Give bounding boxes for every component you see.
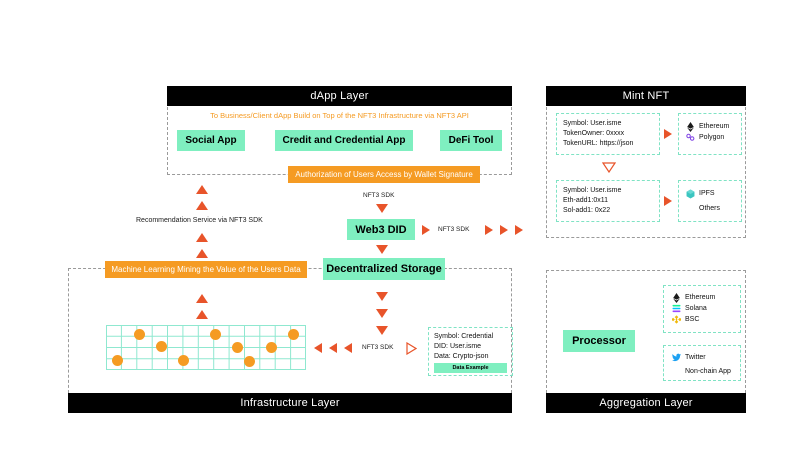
app-chip-defi-label: DeFi Tool	[449, 135, 494, 146]
app-chip-social-label: Social App	[185, 135, 236, 146]
mint-spec-1-line-1: Symbol: User.isme	[563, 119, 653, 129]
app-chip-credit-label: Credit and Credential App	[283, 135, 406, 146]
polygon-icon	[686, 133, 695, 142]
blank-icon	[672, 367, 681, 376]
infrastructure-layer-banner-label: Infrastructure Layer	[240, 397, 339, 409]
recommendation-service-label: Recommendation Service via NFT3 SDK	[136, 217, 263, 224]
arrow-down-did-to-storage	[376, 245, 388, 254]
arrow-up-rec-3	[196, 233, 208, 242]
solana-icon	[672, 304, 681, 313]
mint-target-box-1: Ethereum Polygon	[678, 113, 742, 155]
arrow-left-data-1	[314, 343, 322, 353]
dapp-layer-banner-label: dApp Layer	[310, 90, 368, 102]
chain-row-ethereum: Ethereum	[672, 292, 732, 303]
arrow-down-storage-3	[376, 326, 388, 335]
sdk-label-dapp-to-did: NFT3 SDK	[363, 192, 394, 199]
dapp-layer-note: To Business/Client dApp Build on Top of …	[167, 111, 512, 120]
mint-target-ipfs-label: IPFS	[699, 188, 715, 199]
arrow-up-rec-2	[196, 201, 208, 210]
scatter-dot	[156, 341, 167, 352]
chain-row-solana: Solana	[672, 303, 732, 314]
authorization-box[interactable]: Authorization of Users Access by Wallet …	[288, 166, 480, 183]
machine-learning-box[interactable]: Machine Learning Mining the Value of the…	[105, 261, 307, 278]
arrow-did-right-4	[515, 225, 523, 235]
app-row-nonchain: Non-chain App	[672, 366, 732, 377]
chain-row-bsc: BSC	[672, 314, 732, 325]
mint-target-ethereum: Ethereum	[686, 121, 734, 132]
diagram-canvas: dApp Layer To Business/Client dApp Build…	[0, 0, 800, 450]
web3-did-box[interactable]: Web3 DID	[347, 219, 415, 240]
arrow-did-right-3	[500, 225, 508, 235]
credential-line-1: Symbol: Credential	[434, 332, 507, 342]
app-chip-social[interactable]: Social App	[177, 130, 245, 151]
arrow-left-data-2	[329, 343, 337, 353]
arrow-up-ml-1	[196, 294, 208, 303]
machine-learning-label: Machine Learning Mining the Value of the…	[111, 265, 300, 274]
mint-target-box-2: IPFS Others	[678, 180, 742, 222]
ethereum-icon	[686, 122, 695, 131]
mint-target-ipfs: IPFS	[686, 188, 734, 199]
mint-arrow-down-hollow	[602, 160, 616, 178]
app-row-twitter: Twitter	[672, 352, 732, 363]
scatter-dot	[244, 356, 255, 367]
authorization-label: Authorization of Users Access by Wallet …	[295, 170, 473, 179]
credential-line-3: Data: Crypto-json	[434, 352, 507, 362]
blank-icon	[686, 204, 695, 213]
mint-spec-1-line-3: TokenURL: https://json	[563, 139, 653, 149]
mint-arrow-right-1	[664, 129, 672, 139]
aggregation-apps-box: Twitter Non-chain App	[663, 345, 741, 381]
mint-nft-banner: Mint NFT	[546, 86, 746, 106]
data-example-label: Data Example	[452, 365, 488, 371]
sdk-label-did-right: NFT3 SDK	[438, 226, 469, 233]
infrastructure-layer-banner: Infrastructure Layer	[68, 393, 512, 413]
app-twitter-label: Twitter	[685, 352, 706, 363]
app-nonchain-label: Non-chain App	[685, 366, 731, 377]
mint-spec-2-line-1: Symbol: User.isme	[563, 186, 653, 196]
arrow-down-storage-2	[376, 309, 388, 318]
arrow-right-hollow-data	[406, 342, 417, 360]
user-data-scatter-plot	[106, 325, 306, 370]
credential-line-2: DID: User.isme	[434, 342, 507, 352]
twitter-icon	[672, 353, 681, 362]
arrow-left-data-3	[344, 343, 352, 353]
mint-target-ethereum-label: Ethereum	[699, 121, 729, 132]
scatter-dot	[210, 329, 221, 340]
mint-target-others: Others	[686, 203, 734, 214]
arrow-down-dapp-to-did	[376, 204, 388, 213]
aggregation-layer-banner: Aggregation Layer	[546, 393, 746, 413]
sdk-label-bottom: NFT3 SDK	[362, 344, 393, 351]
aggregation-chains-box: Ethereum Solana	[663, 285, 741, 333]
chain-ethereum-label: Ethereum	[685, 292, 715, 303]
bsc-icon	[672, 315, 681, 324]
decentralized-storage-label: Decentralized Storage	[326, 263, 442, 275]
arrow-did-right-1	[422, 225, 430, 235]
mint-target-polygon-label: Polygon	[699, 132, 724, 143]
web3-did-label: Web3 DID	[355, 224, 406, 236]
chain-bsc-label: BSC	[685, 314, 699, 325]
scatter-dot	[134, 329, 145, 340]
chain-solana-label: Solana	[685, 303, 707, 314]
aggregation-layer-banner-label: Aggregation Layer	[599, 397, 692, 409]
scatter-dot	[112, 355, 123, 366]
mint-nft-banner-label: Mint NFT	[623, 90, 670, 102]
mint-target-polygon: Polygon	[686, 132, 734, 143]
mint-spec-1-line-2: TokenOwner: 0xxxx	[563, 129, 653, 139]
processor-label: Processor	[572, 335, 626, 347]
mint-spec-2-line-3: Sol-add1: 0x22	[563, 206, 653, 216]
ethereum-icon	[672, 293, 681, 302]
mint-spec-box-2: Symbol: User.isme Eth-add1:0x11 Sol-add1…	[556, 180, 660, 222]
scatter-dot	[266, 342, 277, 353]
mint-spec-2-line-2: Eth-add1:0x11	[563, 196, 653, 206]
arrow-up-ml-2	[196, 310, 208, 319]
arrow-up-rec-1	[196, 185, 208, 194]
ipfs-icon	[686, 189, 695, 198]
data-example-badge: Data Example	[434, 363, 507, 373]
arrow-down-storage-1	[376, 292, 388, 301]
app-chip-defi[interactable]: DeFi Tool	[440, 130, 502, 151]
decentralized-storage-box[interactable]: Decentralized Storage	[323, 258, 445, 280]
arrow-up-rec-4	[196, 249, 208, 258]
scatter-dot	[232, 342, 243, 353]
arrow-did-right-2	[485, 225, 493, 235]
processor-box[interactable]: Processor	[563, 330, 635, 352]
dapp-layer-banner: dApp Layer	[167, 86, 512, 106]
scatter-dot	[178, 355, 189, 366]
mint-spec-box-1: Symbol: User.isme TokenOwner: 0xxxx Toke…	[556, 113, 660, 155]
scatter-dot	[288, 329, 299, 340]
mint-target-others-label: Others	[699, 203, 720, 214]
mint-arrow-right-2	[664, 196, 672, 206]
app-chip-credit[interactable]: Credit and Credential App	[275, 130, 413, 151]
